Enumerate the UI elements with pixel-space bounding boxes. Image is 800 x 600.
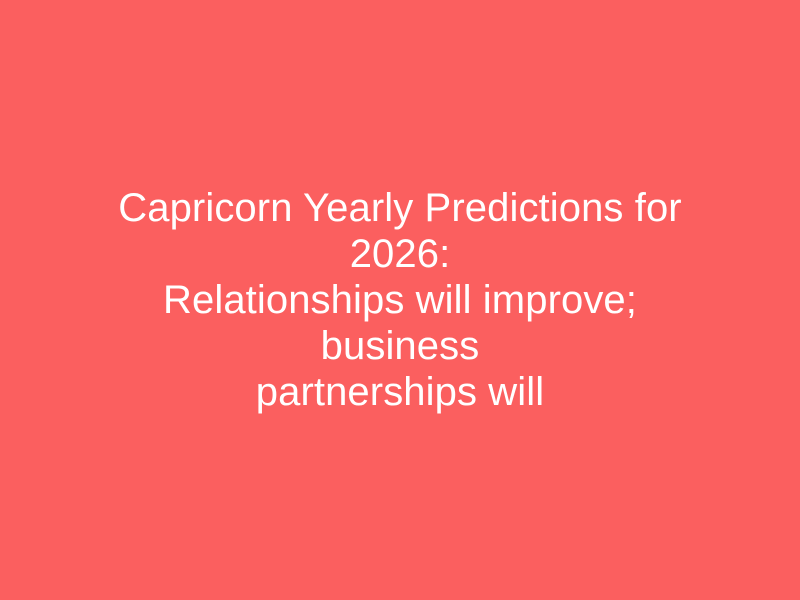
headline-line-1: Capricorn Yearly Predictions for 2026: bbox=[100, 185, 700, 277]
share-card: Capricorn Yearly Predictions for 2026: R… bbox=[0, 0, 800, 600]
headline-block: Capricorn Yearly Predictions for 2026: R… bbox=[100, 185, 700, 415]
headline-line-3: partnerships will bbox=[100, 369, 700, 415]
page-title: Capricorn Yearly Predictions for 2026: R… bbox=[100, 185, 700, 415]
headline-line-2: Relationships will improve; business bbox=[100, 277, 700, 369]
